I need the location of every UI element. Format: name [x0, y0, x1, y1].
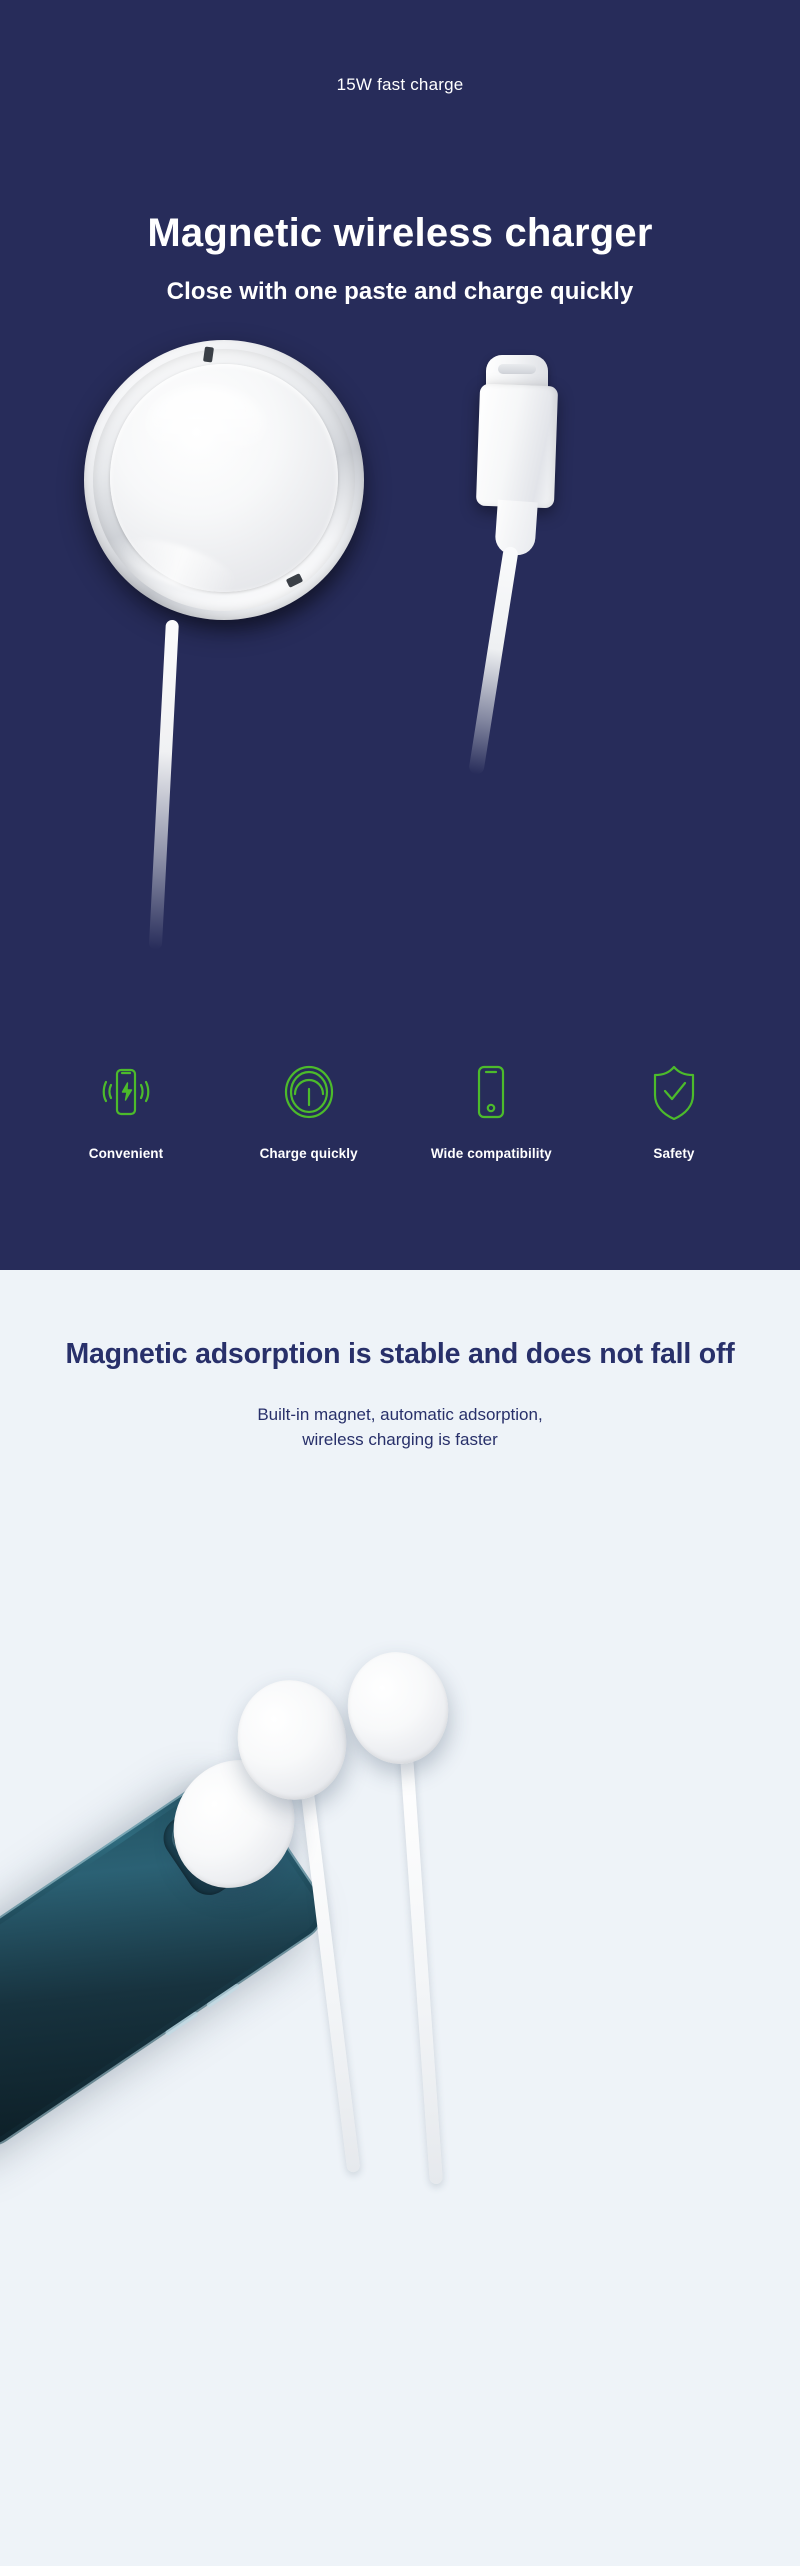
usb-c-connector-image [452, 355, 592, 655]
speedometer-icon [219, 1060, 399, 1124]
feature-label: Convenient [36, 1146, 216, 1161]
section2-subtitle-line1: Built-in magnet, automatic adsorption, [0, 1403, 800, 1428]
feature-label: Charge quickly [219, 1146, 399, 1161]
section2-title: Magnetic adsorption is stable and does n… [0, 1338, 800, 1371]
hero-section: 15W fast charge Magnetic wireless charge… [0, 0, 800, 1270]
wireless-charging-phone-icon [36, 1060, 216, 1124]
hero-product-image [0, 330, 800, 950]
puck-outer-ring [84, 340, 364, 620]
section2-subtitle-line2: wireless charging is faster [0, 1428, 800, 1453]
puck-cable [149, 620, 179, 950]
charger-puck-floating-2 [339, 1644, 457, 1772]
feature-list: Convenient Charge quickly [0, 1060, 800, 1161]
feature-item-charge-quickly: Charge quickly [219, 1060, 399, 1161]
charger-cable [400, 1755, 443, 2185]
feature-item-convenient: Convenient [36, 1060, 216, 1161]
phone-icon [401, 1060, 581, 1124]
charger-puck-image [84, 340, 374, 630]
hero-eyebrow: 15W fast charge [0, 75, 800, 95]
feature-label: Safety [584, 1146, 764, 1161]
shield-check-icon [584, 1060, 764, 1124]
section2-product-image [0, 1570, 800, 2566]
feature-item-safety: Safety [584, 1060, 764, 1161]
usb-c-housing [476, 384, 558, 509]
usb-c-cable [468, 546, 519, 776]
usb-c-strain-relief [494, 500, 538, 557]
feature-item-wide-compatibility: Wide compatibility [401, 1060, 581, 1161]
charger-cable [300, 1784, 360, 2173]
hero-subtitle: Close with one paste and charge quickly [0, 278, 800, 306]
page-title: Magnetic wireless charger [0, 211, 800, 256]
feature-label: Wide compatibility [401, 1146, 581, 1161]
section2-subtitle: Built-in magnet, automatic adsorption, w… [0, 1403, 800, 1452]
magnetic-adsorption-section: Magnetic adsorption is stable and does n… [0, 1270, 800, 2566]
